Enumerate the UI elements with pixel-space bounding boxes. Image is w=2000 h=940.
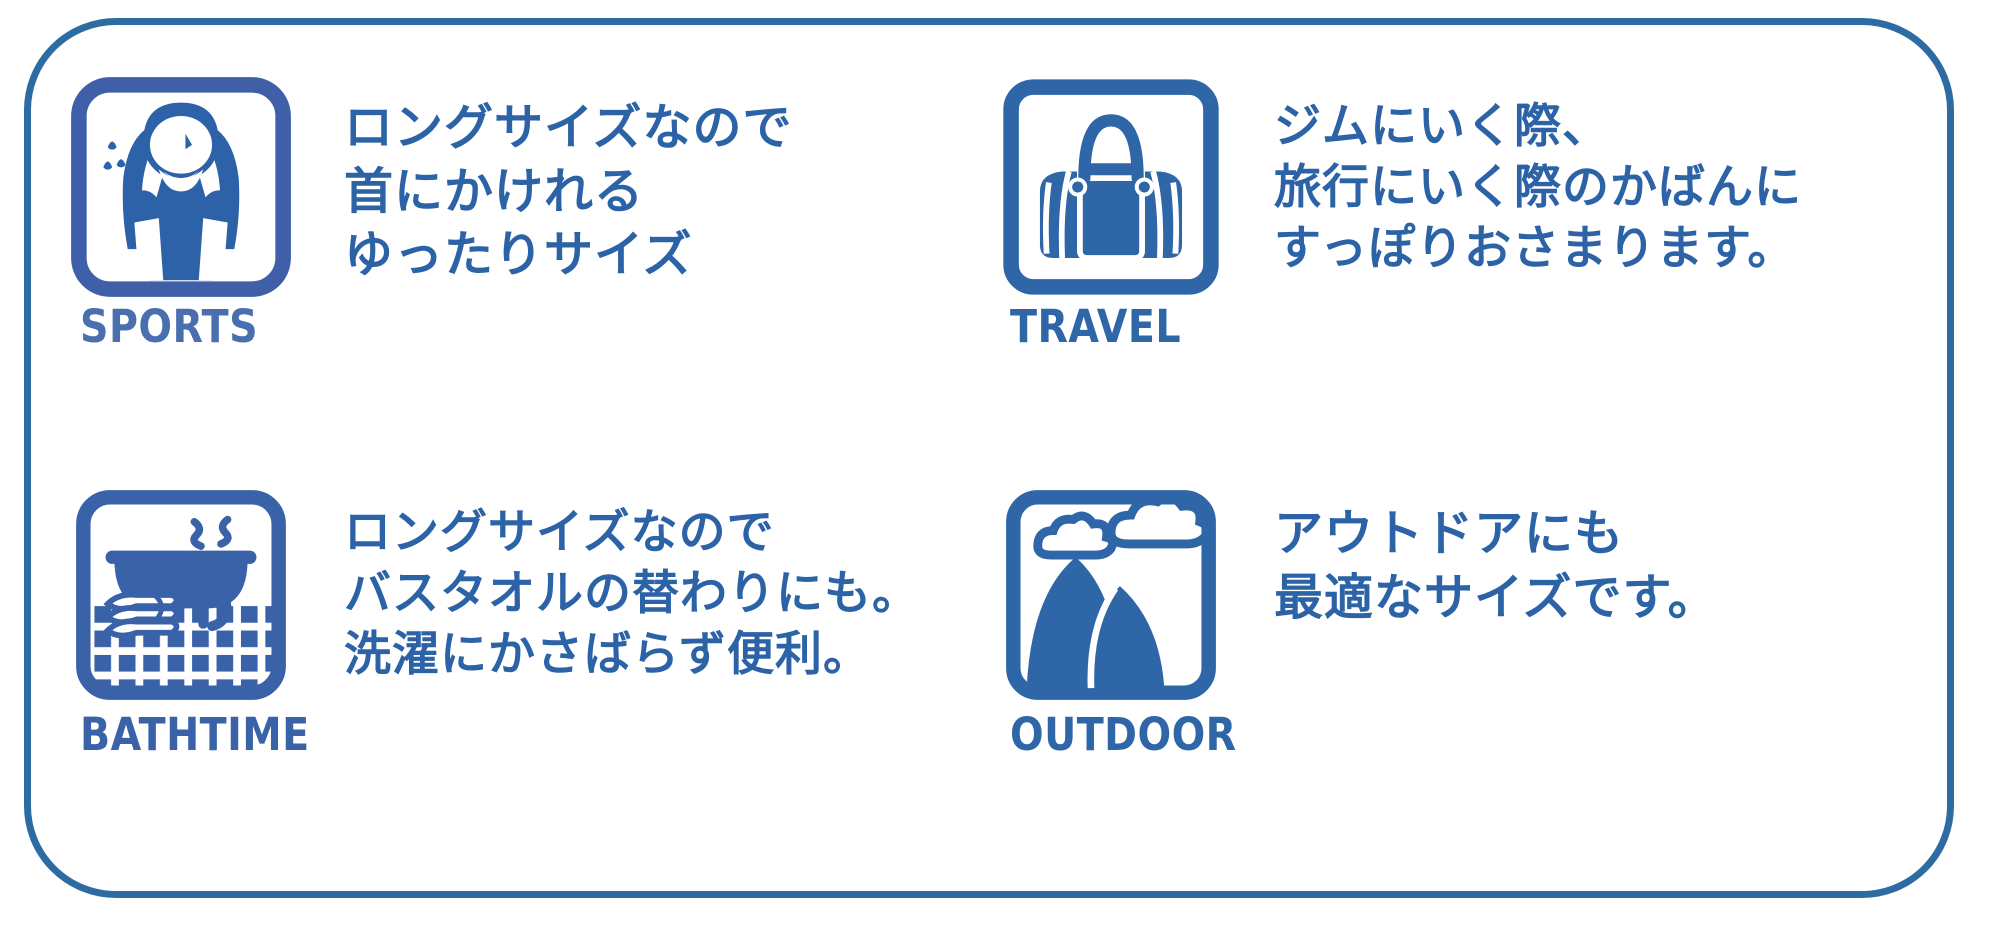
bathtime-bathtub-icon xyxy=(70,484,292,706)
bathtime-text-line-3: 洗濯にかさばらず便利。 xyxy=(344,624,980,685)
sports-text-line-3: ゆったりサイズ xyxy=(344,223,980,287)
sports-text-column: ロングサイズなので 首にかけれる ゆったりサイズ xyxy=(344,70,980,287)
feature-block-outdoor: OUTDOOR アウトドアにも 最適なサイズです。 xyxy=(1000,480,1910,860)
travel-label: TRAVEL xyxy=(1010,304,1181,349)
infographic-page: SPORTS ロングサイズなので 首にかけれる ゆったりサイズ xyxy=(0,0,2000,940)
travel-icon-column: TRAVEL xyxy=(1000,70,1240,349)
sports-text-line-2: 首にかけれる xyxy=(344,160,980,224)
bathtime-text-line-1: ロングサイズなので xyxy=(344,502,980,563)
bathtime-text-column: ロングサイズなので バスタオルの替わりにも。 洗濯にかさばらず便利。 xyxy=(344,480,980,685)
bathtime-label: BATHTIME xyxy=(80,712,310,757)
sports-text-line-1: ロングサイズなので xyxy=(344,96,980,160)
outdoor-mountains-clouds-icon xyxy=(1000,484,1222,706)
feature-block-travel: TRAVEL ジムにいく際、 旅行にいく際のかばんに すっぽりおさまります。 xyxy=(1000,70,1910,450)
feature-block-bathtime: BATHTIME ロングサイズなので バスタオルの替わりにも。 洗濯にかさばらず… xyxy=(70,480,980,860)
bathtime-icon-column: BATHTIME xyxy=(70,480,310,757)
travel-text-line-3: すっぽりおさまります。 xyxy=(1274,218,1910,279)
feature-block-sports: SPORTS ロングサイズなので 首にかけれる ゆったりサイズ xyxy=(70,70,980,450)
sports-label: SPORTS xyxy=(80,304,258,349)
sports-person-with-towel-icon xyxy=(70,76,292,298)
outdoor-text-line-1: アウトドアにも xyxy=(1274,502,1910,566)
travel-duffle-bag-icon xyxy=(1000,76,1222,298)
bathtime-text-line-2: バスタオルの替わりにも。 xyxy=(344,563,980,624)
feature-grid: SPORTS ロングサイズなので 首にかけれる ゆったりサイズ xyxy=(70,70,1910,860)
travel-text-column: ジムにいく際、 旅行にいく際のかばんに すっぽりおさまります。 xyxy=(1274,70,1910,279)
outdoor-icon-column: OUTDOOR xyxy=(1000,480,1240,757)
outdoor-text-column: アウトドアにも 最適なサイズです。 xyxy=(1274,480,1910,629)
sports-icon-column: SPORTS xyxy=(70,70,310,349)
travel-text-line-1: ジムにいく際、 xyxy=(1274,96,1910,157)
outdoor-label: OUTDOOR xyxy=(1010,712,1237,757)
travel-text-line-2: 旅行にいく際のかばんに xyxy=(1274,157,1910,218)
outdoor-text-line-2: 最適なサイズです。 xyxy=(1274,566,1910,630)
